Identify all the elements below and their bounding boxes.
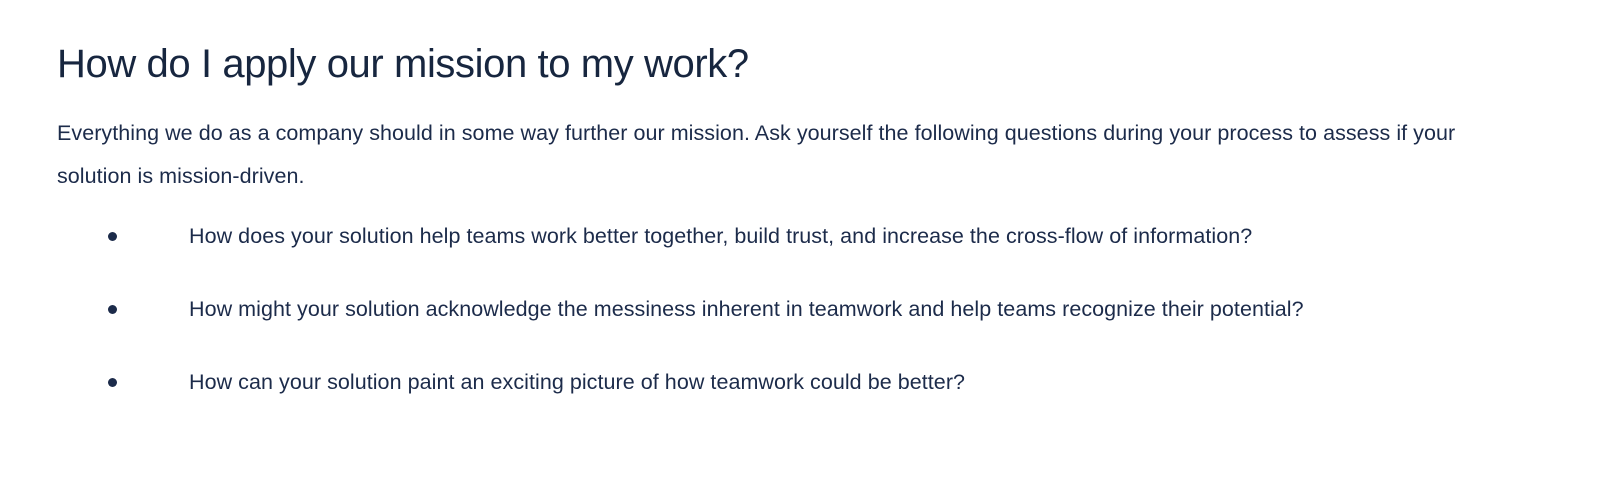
page-title: How do I apply our mission to my work? bbox=[57, 38, 1560, 90]
intro-paragraph: Everything we do as a company should in … bbox=[57, 112, 1507, 198]
bullet-icon bbox=[108, 305, 117, 314]
list-item-label: How might your solution acknowledge the … bbox=[189, 297, 1304, 321]
list-item: How can your solution paint an exciting … bbox=[57, 367, 1560, 440]
bullet-icon bbox=[108, 232, 117, 241]
list-item: How might your solution acknowledge the … bbox=[57, 294, 1560, 367]
mission-guidance-section: How do I apply our mission to my work? E… bbox=[0, 0, 1600, 488]
list-item: How does your solution help teams work b… bbox=[57, 221, 1560, 294]
list-item-label: How can your solution paint an exciting … bbox=[189, 370, 965, 394]
list-item-label: How does your solution help teams work b… bbox=[189, 224, 1252, 248]
bullet-icon bbox=[108, 378, 117, 387]
question-list: How does your solution help teams work b… bbox=[57, 221, 1560, 440]
